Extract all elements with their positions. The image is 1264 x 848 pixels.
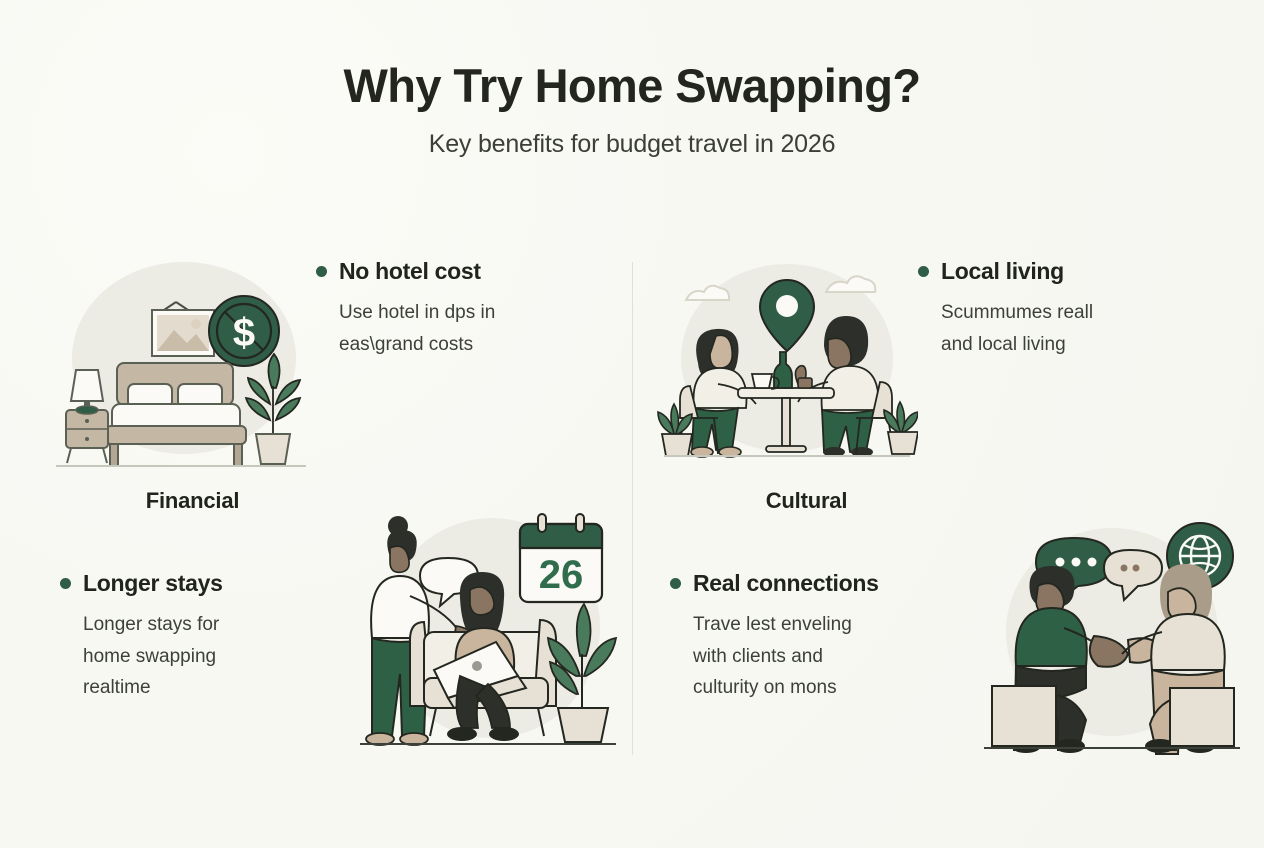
calendar-day-number: 26 xyxy=(539,553,584,597)
benefit-body: Scummumes reall and local living xyxy=(941,297,1156,360)
column-divider xyxy=(632,262,633,755)
category-label-financial: Financial xyxy=(110,488,275,514)
benefit-body-line: and local living xyxy=(941,329,1156,361)
benefit-body-line: Longer stays for xyxy=(83,609,298,641)
bullet-dot-icon xyxy=(60,578,71,589)
benefit-heading: Local living xyxy=(941,258,1064,285)
benefit-card-local-living: Local living Scummumes reall and local l… xyxy=(656,258,1246,508)
benefit-body-line: Use hotel in dps in xyxy=(339,297,554,329)
page-subtitle: Key benefits for budget travel in 2026 xyxy=(0,130,1264,159)
cafe-illustration xyxy=(656,258,918,476)
benefit-card-longer-stays: Longer stays Longer stays for home swapp… xyxy=(44,512,624,762)
benefit-body: Use hotel in dps in eas\grand costs xyxy=(339,297,554,360)
benefit-heading: No hotel cost xyxy=(339,258,481,285)
bullet-dot-icon xyxy=(670,578,681,589)
benefit-card-no-hotel-cost: $ xyxy=(44,258,624,508)
handshake-illustration xyxy=(978,516,1246,756)
benefit-card-real-connections: Real connections Trave lest enveling wit… xyxy=(656,512,1246,762)
benefit-body-line: eas\grand costs xyxy=(339,329,554,361)
svg-text:$: $ xyxy=(233,311,255,355)
category-label-cultural: Cultural xyxy=(724,488,889,514)
bullet-dot-icon xyxy=(918,266,929,277)
living-room-laptop-illustration: 26 xyxy=(352,508,624,758)
benefit-body-line: Scummumes reall xyxy=(941,297,1156,329)
benefit-body-line: home swapping xyxy=(83,641,298,673)
benefit-body-line: with clients and xyxy=(693,641,898,673)
benefit-text-longer-stays: Longer stays Longer stays for home swapp… xyxy=(44,512,352,704)
benefit-heading: Longer stays xyxy=(83,570,223,597)
benefit-body-line: Trave lest enveling xyxy=(693,609,898,641)
benefit-text-real-connections: Real connections Trave lest enveling wit… xyxy=(656,512,978,704)
page-title: Why Try Home Swapping? xyxy=(0,60,1264,112)
benefit-body: Longer stays for home swapping realtime xyxy=(83,609,298,704)
infographic-canvas: Why Try Home Swapping? Key benefits for … xyxy=(0,0,1264,848)
header: Why Try Home Swapping? Key benefits for … xyxy=(0,60,1264,159)
benefit-heading: Real connections xyxy=(693,570,879,597)
bullet-dot-icon xyxy=(316,266,327,277)
bedroom-illustration: $ xyxy=(44,258,316,480)
benefit-text-local-living: Local living Scummumes reall and local l… xyxy=(918,258,1246,360)
calendar-icon: 26 xyxy=(520,514,602,602)
no-dollar-badge: $ xyxy=(209,296,279,366)
benefit-body-line: culturity on mons xyxy=(693,672,898,704)
benefit-body: Trave lest enveling with clients and cul… xyxy=(693,609,898,704)
benefit-body-line: realtime xyxy=(83,672,298,704)
benefit-text-no-hotel-cost: No hotel cost Use hotel in dps in eas\gr… xyxy=(316,258,624,360)
